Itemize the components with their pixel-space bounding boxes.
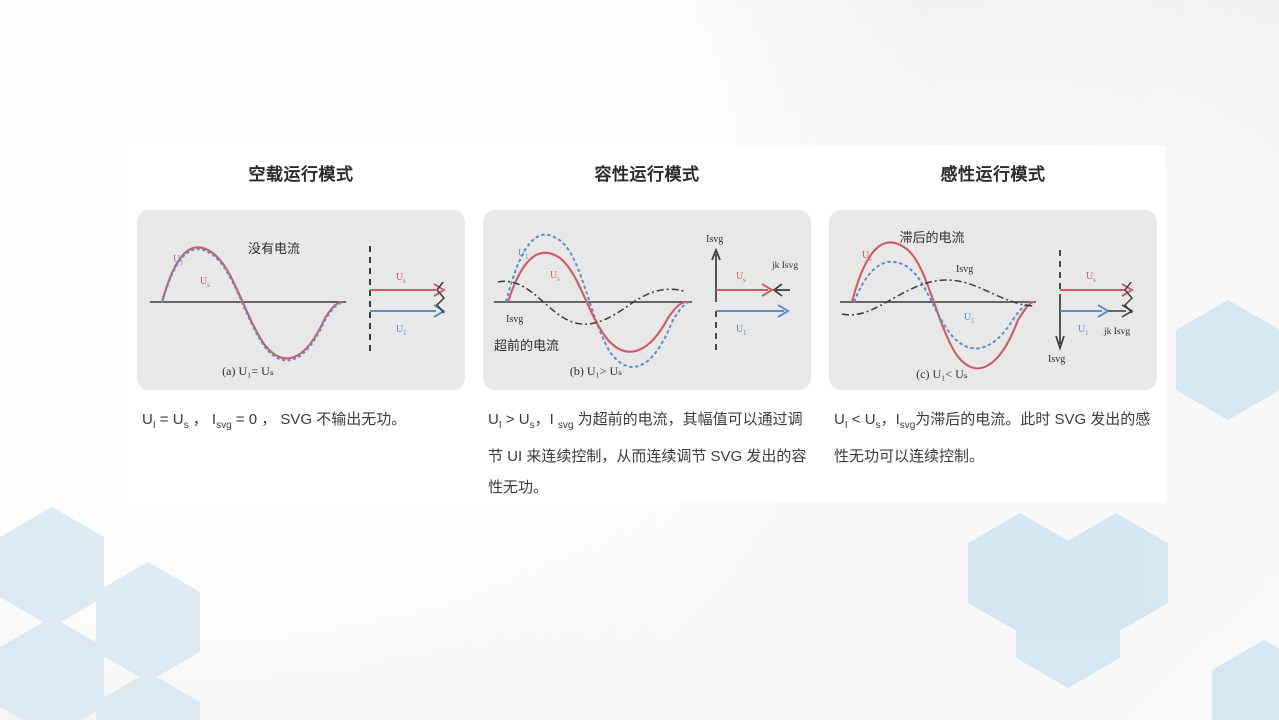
curve-isvg-dark (842, 280, 1034, 315)
curve-u1-blue (162, 249, 342, 360)
phasor-label-jkisvg: jk Isvg (1103, 327, 1130, 337)
wave-annotation: 超前的电流 (494, 338, 559, 353)
curve-label-isvg: Isvg (956, 264, 973, 275)
column-capacitive: 容性运行模式 U 1 U s Isvg 超前的电流 Isvg (474, 146, 820, 502)
phasor-label-jkisvg: jk Isvg (771, 261, 798, 271)
curve-us-red (162, 247, 342, 358)
diagram-panel-no-load: U 1 U s 没有电流 U s U 1 (a) U₁= Uₛ (137, 210, 465, 390)
curve-label-u1-sub: 1 (180, 259, 184, 267)
capacitive-diagram: U 1 U s Isvg 超前的电流 Isvg U s (483, 210, 811, 390)
column-title: 容性运行模式 (474, 160, 820, 185)
diagram-panel-capacitive: U 1 U s Isvg 超前的电流 Isvg U s (483, 210, 811, 390)
phasor-label-u1-sub: 1 (1085, 329, 1089, 337)
phasor-axis-label: Isvg (1048, 354, 1065, 365)
figure-caption: (c) U₁< Uₛ (916, 367, 968, 381)
column-inductive: 感性运行模式 U s Isvg U 1 滞后的电流 Isvg (820, 146, 1166, 502)
curve-label-us-sub: s (207, 281, 210, 289)
inductive-diagram: U s Isvg U 1 滞后的电流 Isvg U s (829, 210, 1157, 390)
column-caption: UI > Us，I svg 为超前的电流，其幅值可以通过调节 UI 来连续控制，… (488, 404, 810, 503)
column-caption: UI < Us，Isvg为滞后的电流。此时 SVG 发出的感性无功可以连续控制。 (834, 404, 1156, 472)
curve-label-us-sub: s (869, 255, 872, 263)
phasor-label-u1-sub: 1 (743, 329, 747, 337)
curve-label-isvg: Isvg (506, 314, 523, 325)
phasor-label-u1-sub: 1 (403, 329, 407, 337)
figure-caption: (a) U₁= Uₛ (222, 364, 274, 378)
curve-label-u1-sub: 1 (971, 317, 975, 325)
figure-caption: (b) U₁> Uₛ (570, 364, 622, 378)
content-card: 空载运行模式 U 1 U s 没有电流 (128, 146, 1166, 502)
curve-label-u1-sub: 1 (525, 253, 529, 261)
phasor-label-us-sub: s (1093, 276, 1096, 284)
diagram-panel-inductive: U s Isvg U 1 滞后的电流 Isvg U s (829, 210, 1157, 390)
phasor-label-us-sub: s (403, 277, 406, 285)
wave-annotation: 滞后的电流 (899, 230, 964, 245)
wave-annotation: 没有电流 (248, 241, 300, 256)
no-load-diagram: U 1 U s 没有电流 U s U 1 (a) U₁= Uₛ (137, 210, 465, 390)
column-caption: UI = Us ， Isvg = 0 ， SVG 不输出无功。 (142, 404, 464, 441)
curve-us-red (852, 242, 1034, 368)
phasor-axis-label: Isvg (706, 234, 723, 245)
column-title: 感性运行模式 (820, 160, 1166, 185)
column-no-load: 空载运行模式 U 1 U s 没有电流 (128, 146, 474, 502)
phasor-label-us-sub: s (743, 276, 746, 284)
column-title: 空载运行模式 (128, 160, 474, 185)
curve-label-us-sub: s (557, 275, 560, 283)
